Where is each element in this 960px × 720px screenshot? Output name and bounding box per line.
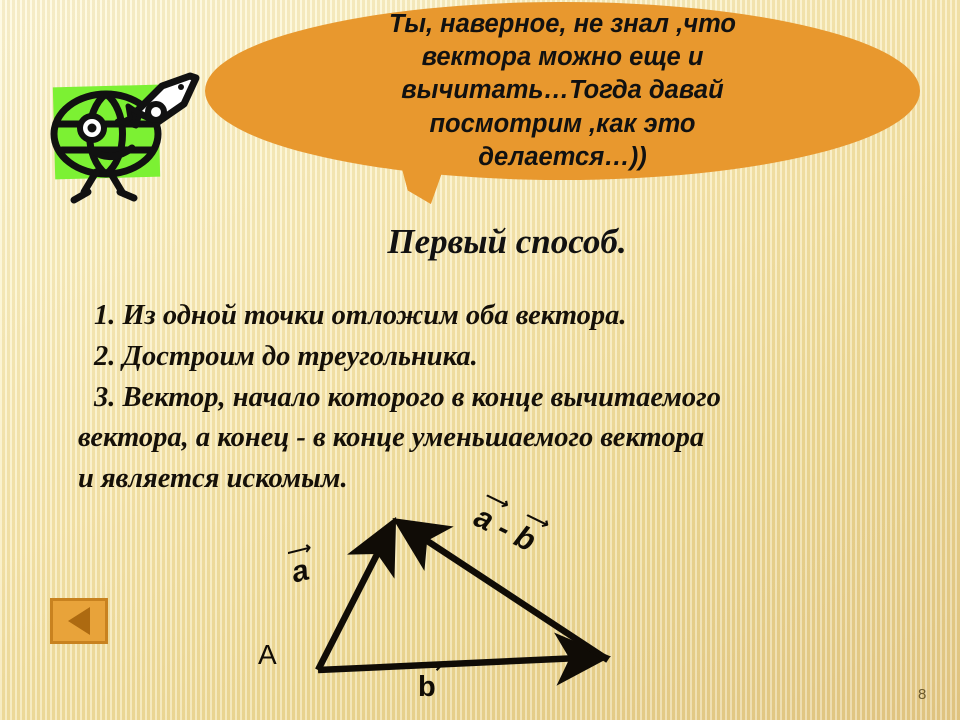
page-number: 8 bbox=[918, 686, 926, 703]
vector-b-line bbox=[318, 657, 602, 670]
vector-a-line bbox=[318, 525, 392, 670]
bubble-line-1: Ты, наверное, не знал ,что bbox=[389, 8, 736, 41]
page-title: Первый способ. bbox=[0, 222, 960, 262]
bubble-line-4: посмотрим ,как это bbox=[429, 108, 695, 141]
step-item-3-cont-b: и является искомым. bbox=[78, 459, 958, 500]
slide-canvas: Ты, наверное, не знал ,что вектора можно… bbox=[0, 0, 960, 720]
vector-b-label: ⟶ b bbox=[418, 671, 436, 704]
step-item-3: 3. Вектор, начало которого в конце вычит… bbox=[78, 378, 958, 419]
speech-bubble: Ты, наверное, не знал ,что вектора можно… bbox=[205, 2, 925, 207]
step-item-2: 2. Достроим до треугольника. bbox=[78, 337, 958, 378]
arrow-over-b-icon: ⟶ bbox=[417, 658, 435, 675]
triangle-left-icon bbox=[68, 607, 90, 635]
vector-triangle-svg bbox=[220, 495, 660, 720]
globe-mascot-svg bbox=[44, 62, 204, 212]
step-item-1: 1. Из одной точки отложим оба вектора. bbox=[78, 296, 958, 337]
arrow-over-a-icon: ⟶ bbox=[284, 541, 304, 562]
globe-character-with-rocket-icon bbox=[44, 62, 204, 212]
steps-list: 1. Из одной точки отложим оба вектора. 2… bbox=[78, 296, 958, 500]
vertex-label-a: A bbox=[258, 639, 277, 671]
back-button[interactable] bbox=[50, 598, 108, 644]
step-item-3-cont-a: вектора, а конец - в конце уменьшаемого … bbox=[78, 418, 958, 459]
vector-triangle-diagram: A ⟶ a ⟶ a - ⟶ b ⟶ b bbox=[220, 495, 660, 720]
speech-bubble-text: Ты, наверное, не знал ,что вектора можно… bbox=[205, 2, 920, 180]
bubble-line-2: вектора можно еще и bbox=[422, 41, 704, 74]
bubble-line-5: делается…)) bbox=[478, 141, 647, 174]
bubble-line-3: вычитать…Тогда давай bbox=[401, 74, 723, 107]
